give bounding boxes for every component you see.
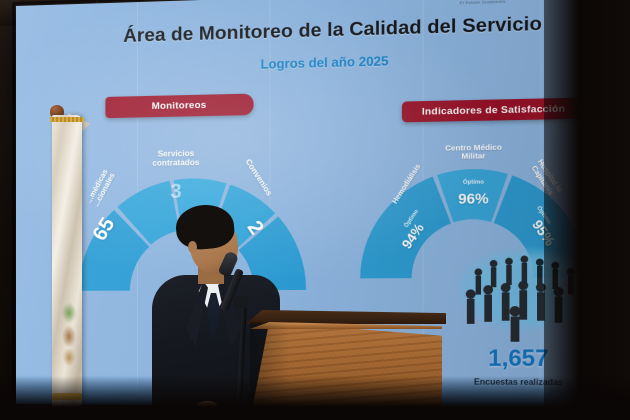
right-segment-2-value: 96% <box>446 190 501 207</box>
speaker-ear <box>188 241 197 253</box>
slide-subtitle: Logros del año 2025 <box>168 52 486 75</box>
flag-emblem <box>56 301 82 375</box>
left-segment-2-value: 3 <box>155 180 196 204</box>
slide-title: Área de Monitoreo de la Calidad del Serv… <box>121 12 545 46</box>
right-segment-2-qualifier: Óptimo <box>448 179 498 186</box>
flag-fringe <box>50 117 84 122</box>
right-segment-2-label: Centro Médico Militar <box>427 143 521 162</box>
microphone-clip <box>234 296 248 308</box>
section-header-monitoreos: Monitoreos <box>105 94 253 119</box>
left-segment-2-label: Servicios contratados <box>137 150 215 169</box>
slide-corner-brand: El Estado Guatemala <box>460 0 505 5</box>
ceremonial-flag <box>38 105 94 420</box>
right-wall-shadow <box>544 0 630 420</box>
photograph-scene: El Estado Guatemala Área de Monitoreo de… <box>0 0 630 420</box>
floor-shadow <box>0 376 630 420</box>
